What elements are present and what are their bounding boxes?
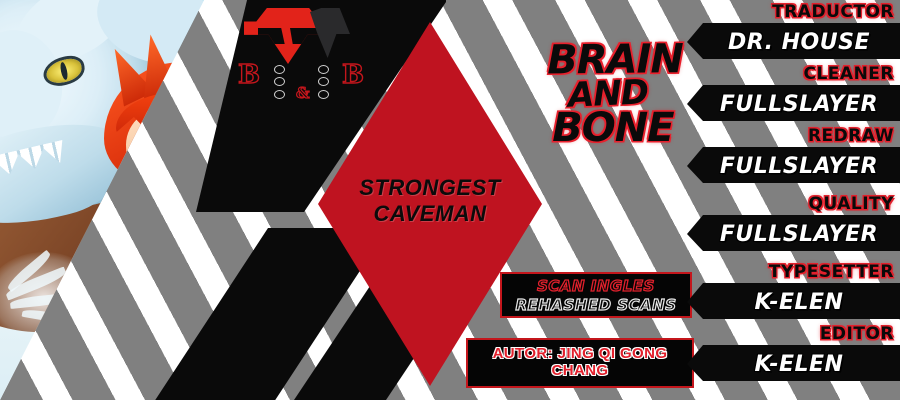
series-title: BRAIN AND BONE [519, 40, 702, 150]
credit-entry-typesetter: TYPESETTER K-ELEN [690, 276, 900, 320]
credit-entry-quality: QUALITY FULLSLAYER [690, 208, 900, 252]
author-box: AUTOR: JING QI GONG CHANG [466, 338, 694, 388]
scan-source-box: SCAN INGLES REHASHED SCANS [500, 272, 692, 318]
credits-banner: 最强 原始 B B & STRONGEST CAVEMAN [0, 0, 900, 400]
credit-entry-traductor: TRADUCTOR DR. HOUSE [690, 16, 900, 60]
logo-dot [318, 90, 329, 99]
series-title-line-3: BONE [523, 110, 703, 147]
credit-entry-editor: EDITOR K-ELEN [690, 338, 900, 382]
scan-source-line-1: SCAN INGLES [537, 277, 655, 295]
author-text: AUTOR: JING QI GONG CHANG [476, 346, 684, 380]
logo-lettering: B B & [238, 62, 364, 102]
logo-letter-left: B [238, 62, 260, 88]
credit-entry-cleaner: CLEANER FULLSLAYER [690, 78, 900, 122]
credit-role-label: EDITOR [820, 324, 894, 344]
credit-member-name: K-ELEN [706, 285, 892, 319]
credit-member-name: DR. HOUSE [706, 25, 892, 59]
credit-role-label: QUALITY [809, 194, 894, 214]
brain-and-bone-emblem-icon [244, 8, 348, 64]
scan-source-line-2: REHASHED SCANS [515, 296, 676, 314]
credit-member-name: FULLSLAYER [706, 149, 892, 183]
logo-dot-grid [270, 64, 332, 100]
credit-member-name: FULLSLAYER [706, 217, 892, 251]
logo-dot [274, 65, 285, 74]
credit-member-name: K-ELEN [706, 347, 892, 381]
brand-logo: B B & [238, 6, 364, 102]
logo-dot [274, 90, 285, 99]
logo-dot [274, 77, 285, 86]
logo-dot [318, 77, 329, 86]
credits-column: TRADUCTOR DR. HOUSE CLEANER FULLSLAYER R… [690, 0, 900, 400]
credit-role-label: CLEANER [803, 64, 894, 84]
logo-letter-right: B [342, 62, 364, 88]
logo-dot [318, 65, 329, 74]
credit-member-name: FULLSLAYER [706, 87, 892, 121]
credit-role-label: TYPESETTER [769, 262, 894, 282]
credit-role-label: TRADUCTOR [772, 2, 894, 22]
credit-entry-redraw: REDRAW FULLSLAYER [690, 140, 900, 184]
credit-role-label: REDRAW [808, 126, 894, 146]
